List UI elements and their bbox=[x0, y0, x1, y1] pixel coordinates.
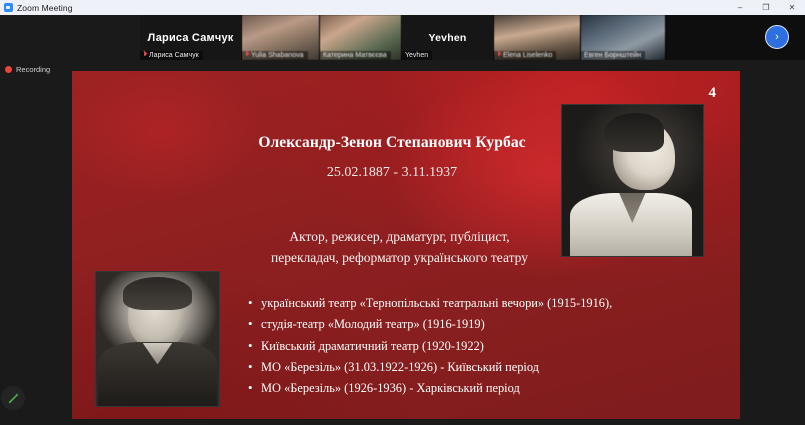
portrait-shirt-shape bbox=[570, 193, 691, 256]
mic-muted-icon bbox=[497, 52, 501, 59]
zoom-logo-icon bbox=[4, 3, 13, 12]
participant-name-badge: Катерина Матвєєва bbox=[320, 51, 391, 60]
slide-bullet-item: студія-театр «Молодий театр» (1916-1919) bbox=[248, 314, 718, 335]
participant-tile-6[interactable]: Евген Борнштейн bbox=[581, 15, 666, 60]
close-button[interactable]: ✕ bbox=[779, 0, 805, 15]
portrait-hair-shape bbox=[123, 277, 192, 309]
slide-dates: 25.02.1887 - 3.11.1937 bbox=[222, 165, 562, 181]
participant-tile-2[interactable]: Yulia Shabanova bbox=[242, 15, 320, 60]
filmstrip-left-spacer bbox=[0, 15, 140, 60]
annotate-pen-button[interactable] bbox=[1, 386, 25, 410]
portrait-hair-shape bbox=[604, 113, 663, 152]
participant-name-text: Elena Liselenko bbox=[503, 52, 552, 59]
window-title: Zoom Meeting bbox=[17, 3, 73, 13]
slide-bullet-item: Київський драматичний театр (1920-1922) bbox=[248, 336, 718, 357]
participant-name-badge: Yulia Shabanova bbox=[242, 51, 308, 60]
recording-indicator[interactable]: Recording bbox=[5, 65, 50, 74]
participant-tile-3[interactable]: Катерина Матвєєва bbox=[320, 15, 402, 60]
participant-name-badge: Евген Борнштейн bbox=[581, 51, 645, 60]
mic-muted-icon bbox=[245, 52, 249, 59]
slide-title: Олександр-Зенон Степанович Курбас bbox=[222, 134, 562, 152]
slide-bullet-item: український театр «Тернопільські театрал… bbox=[248, 293, 718, 314]
maximize-button[interactable]: ❐ bbox=[753, 0, 779, 15]
recording-dot-icon bbox=[5, 66, 12, 73]
participant-name-text: Лариса Самчук bbox=[149, 52, 199, 59]
filmstrip-next-button[interactable]: › bbox=[765, 25, 789, 49]
minimize-button[interactable]: – bbox=[727, 0, 753, 15]
portrait-photo-right bbox=[561, 104, 704, 257]
portrait-photo-left bbox=[95, 271, 220, 407]
pen-icon bbox=[7, 392, 20, 405]
participant-filmstrip[interactable]: Лариса Самчук Лариса Самчук Yulia Shaban… bbox=[0, 15, 805, 60]
participant-name-badge: Лариса Самчук bbox=[140, 51, 203, 60]
participant-name-badge: Yevhen bbox=[402, 51, 432, 60]
participant-tile-1[interactable]: Лариса Самчук Лариса Самчук bbox=[140, 15, 242, 60]
slide-bullet-item: МО «Березіль» (1926-1936) - Харківський … bbox=[248, 378, 718, 399]
recording-label: Recording bbox=[16, 65, 50, 74]
portrait-image-right bbox=[562, 105, 703, 256]
slide-bullet-item: МО «Березіль» (31.03.1922-1926) - Київсь… bbox=[248, 357, 718, 378]
participant-display-name: Yevhen bbox=[429, 32, 467, 44]
participant-tile-4[interactable]: Yevhen Yevhen bbox=[402, 15, 494, 60]
slide-page-number: 4 bbox=[709, 85, 717, 102]
participant-tile-5[interactable]: Elena Liselenko bbox=[494, 15, 581, 60]
shared-slide[interactable]: 4 Олександр-Зенон Степанович Курбас 25.0… bbox=[72, 71, 740, 425]
chevron-right-icon: › bbox=[775, 32, 779, 43]
participant-name-badge: Elena Liselenko bbox=[494, 51, 556, 60]
participant-name-text: Евген Борнштейн bbox=[584, 52, 641, 59]
participant-name-text: Yulia Shabanova bbox=[251, 52, 304, 59]
bottom-bar bbox=[0, 419, 805, 425]
slide-subtitle: Актор, режисер, драматург, публіцист, пе… bbox=[217, 227, 582, 269]
participant-name-text: Yevhen bbox=[405, 52, 428, 59]
slide-subtitle-line-1: Актор, режисер, драматург, публіцист, bbox=[217, 227, 582, 248]
slide-bullet-list: український театр «Тернопільські театрал… bbox=[248, 293, 718, 400]
participant-display-name: Лариса Самчук bbox=[148, 32, 234, 44]
portrait-image-left bbox=[96, 272, 219, 406]
slide-subtitle-line-2: перекладач, реформатор українського теат… bbox=[217, 248, 582, 269]
window-title-bar: Zoom Meeting – ❐ ✕ bbox=[0, 0, 805, 15]
window-controls: – ❐ ✕ bbox=[727, 0, 805, 15]
meeting-stage: Лариса Самчук Лариса Самчук Yulia Shaban… bbox=[0, 15, 805, 425]
participant-name-text: Катерина Матвєєва bbox=[323, 52, 387, 59]
mic-muted-icon bbox=[143, 52, 147, 59]
